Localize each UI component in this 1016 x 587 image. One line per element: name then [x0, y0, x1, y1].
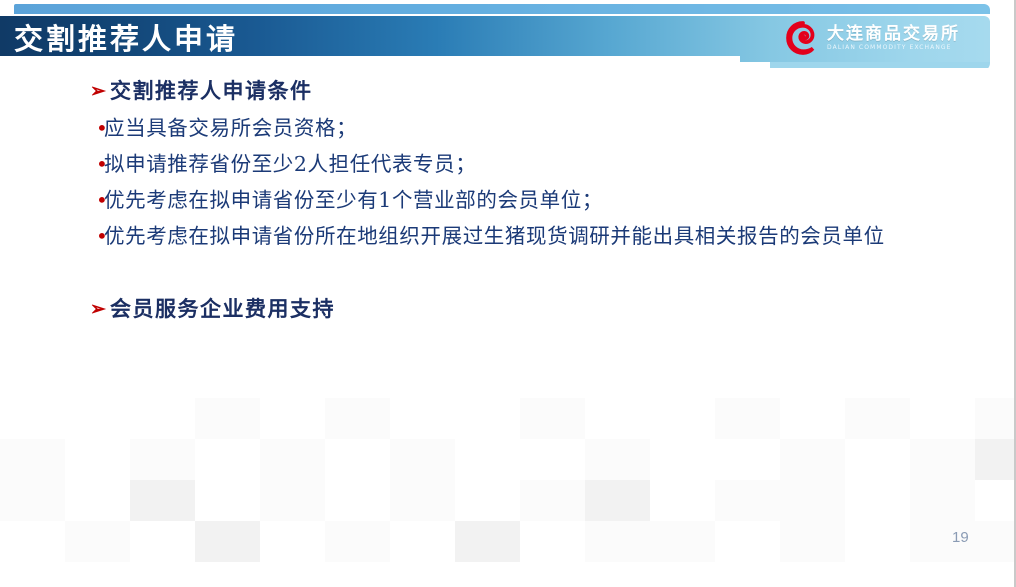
mosaic-cell — [715, 480, 780, 521]
mosaic-cell — [650, 398, 715, 439]
mosaic-cell — [585, 521, 650, 562]
mosaic-cell — [780, 439, 845, 480]
mosaic-cell — [520, 439, 585, 480]
mosaic-cell — [715, 398, 780, 439]
mosaic-cell — [715, 439, 780, 480]
red-swirl-logo-icon — [786, 21, 820, 55]
mosaic-cell — [325, 398, 390, 439]
mosaic-cell — [910, 398, 975, 439]
mosaic-cell — [910, 480, 975, 521]
section-heading-member-fee-support: ➢ 会员服务企业费用支持 — [0, 294, 1016, 324]
section-heading-text: 会员服务企业费用支持 — [110, 296, 335, 321]
mosaic-cell — [455, 398, 520, 439]
section-heading-text: 交割推荐人申请条件 — [110, 78, 313, 103]
page-title: 交割推荐人申请 — [14, 17, 474, 61]
mosaic-cell — [845, 398, 910, 439]
mosaic-cell — [975, 480, 1016, 521]
logo-name-en: DALIAN COMMODITY EXCHANGE — [827, 43, 960, 52]
section-heading-application-conditions: ➢ 交割推荐人申请条件 — [0, 76, 1016, 106]
list-item: • 优先考虑在拟申请省份所在地组织开展过生猪现货调研并能出具相关报告的会员单位 — [0, 218, 1016, 254]
mosaic-cell — [65, 521, 130, 562]
mosaic-cell — [650, 480, 715, 521]
dot-bullet-icon: • — [96, 146, 108, 182]
mosaic-cell — [130, 439, 195, 480]
slide-header: 交割推荐人申请 大连商品交易所 DALIAN COMMODITY EXCHANG… — [0, 0, 1016, 80]
mosaic-cell — [975, 521, 1016, 562]
mosaic-cell — [130, 521, 195, 562]
mosaic-cell — [585, 398, 650, 439]
list-item-text: 优先考虑在拟申请省份至少有1个营业部的会员单位； — [104, 188, 603, 212]
mosaic-cell — [260, 521, 325, 562]
slide-body: ➢ 交割推荐人申请条件 • 应当具备交易所会员资格； • 拟申请推荐省份至少2人… — [0, 76, 1016, 324]
mosaic-cell — [325, 480, 390, 521]
mosaic-cell — [910, 439, 975, 480]
mosaic-cell — [780, 521, 845, 562]
mosaic-cell — [130, 398, 195, 439]
arrow-bullet-icon: ➢ — [90, 80, 107, 102]
background-mosaic-pattern — [0, 398, 1016, 566]
mosaic-cell — [260, 398, 325, 439]
mosaic-cell — [0, 439, 65, 480]
mosaic-cell — [715, 521, 780, 562]
arrow-bullet-icon: ➢ — [90, 298, 107, 320]
mosaic-cell — [390, 521, 455, 562]
mosaic-cell — [975, 398, 1016, 439]
mosaic-cell — [390, 398, 455, 439]
mosaic-cell — [195, 439, 260, 480]
mosaic-cell — [0, 398, 65, 439]
list-item: • 拟申请推荐省份至少2人担任代表专员； — [0, 146, 1016, 182]
mosaic-cell — [650, 521, 715, 562]
header-top-stripe — [14, 4, 990, 14]
mosaic-cell — [0, 480, 65, 521]
mosaic-cell — [585, 480, 650, 521]
mosaic-cell — [325, 521, 390, 562]
mosaic-cell — [390, 480, 455, 521]
dot-bullet-icon: • — [96, 110, 108, 146]
mosaic-cell — [845, 480, 910, 521]
mosaic-cell — [455, 439, 520, 480]
mosaic-cell — [390, 439, 455, 480]
mosaic-cell — [260, 480, 325, 521]
list-item-text: 优先考虑在拟申请省份所在地组织开展过生猪现货调研并能出具相关报告的会员单位 — [104, 224, 885, 248]
mosaic-cell — [260, 439, 325, 480]
mosaic-cell — [130, 480, 195, 521]
dce-logo: 大连商品交易所 DALIAN COMMODITY EXCHANGE — [786, 20, 986, 56]
mosaic-cell — [65, 480, 130, 521]
mosaic-cell — [975, 439, 1016, 480]
dot-bullet-icon: • — [96, 218, 108, 254]
mosaic-cell — [520, 480, 585, 521]
list-item: • 优先考虑在拟申请省份至少有1个营业部的会员单位； — [0, 182, 1016, 218]
mosaic-cell — [195, 480, 260, 521]
mosaic-cell — [65, 439, 130, 480]
dot-bullet-icon: • — [96, 182, 108, 218]
mosaic-cell — [65, 398, 130, 439]
mosaic-cell — [650, 439, 715, 480]
list-item-text: 拟申请推荐省份至少2人担任代表专员； — [104, 152, 476, 176]
list-item: • 应当具备交易所会员资格； — [0, 110, 1016, 146]
mosaic-cell — [780, 480, 845, 521]
mosaic-cell — [195, 521, 260, 562]
spacer — [0, 254, 1016, 294]
mosaic-cell — [845, 439, 910, 480]
mosaic-cell — [0, 521, 65, 562]
mosaic-cell — [455, 521, 520, 562]
page-number: 19 — [952, 529, 969, 546]
list-item-text: 应当具备交易所会员资格； — [104, 116, 357, 140]
mosaic-cell — [845, 521, 910, 562]
mosaic-cell — [325, 439, 390, 480]
mosaic-cell — [195, 398, 260, 439]
slide-canvas: 交割推荐人申请 大连商品交易所 DALIAN COMMODITY EXCHANG… — [0, 0, 1016, 587]
mosaic-cell — [520, 398, 585, 439]
logo-name-cn: 大连商品交易所 — [827, 25, 960, 43]
mosaic-cell — [780, 398, 845, 439]
mosaic-cell — [585, 439, 650, 480]
mosaic-cell — [520, 521, 585, 562]
logo-text-block: 大连商品交易所 DALIAN COMMODITY EXCHANGE — [827, 25, 960, 52]
mosaic-cell — [455, 480, 520, 521]
